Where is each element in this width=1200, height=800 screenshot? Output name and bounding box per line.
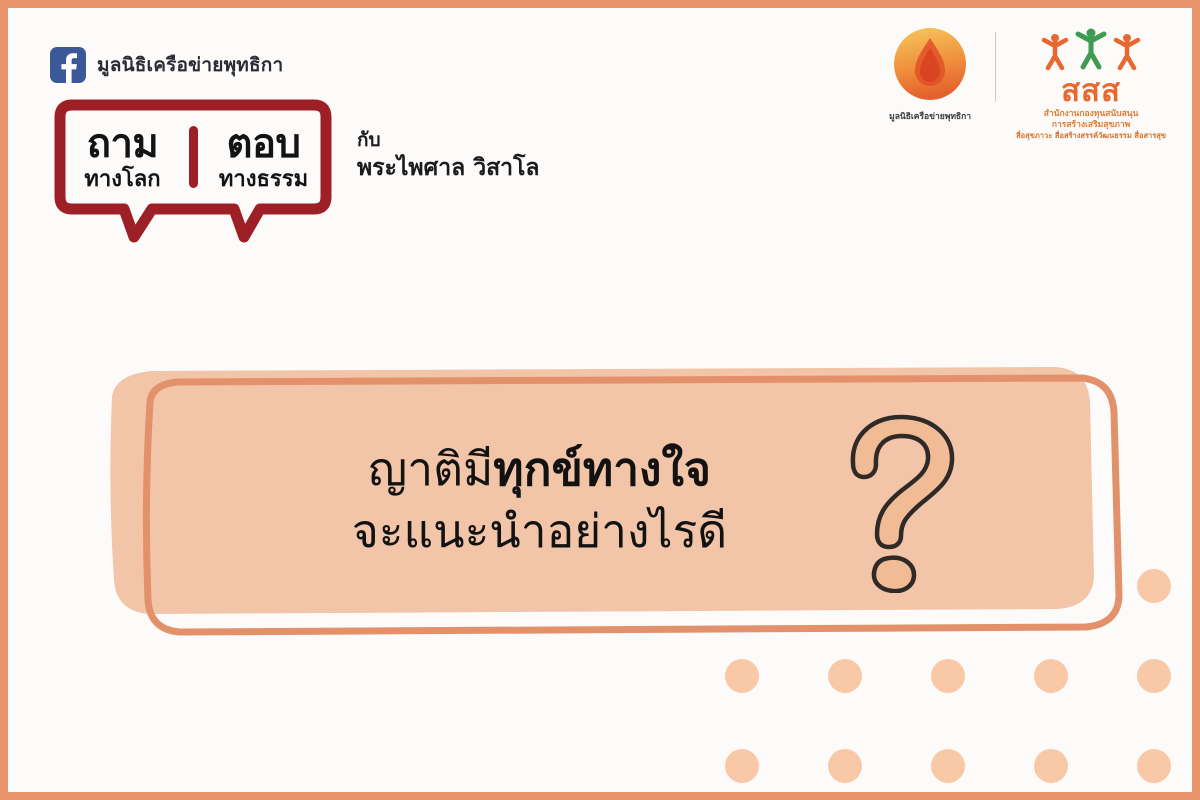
thaihealth-caption-line2: การสร้างเสริมสุขภาพ [1016, 120, 1166, 131]
partner-divider [995, 32, 996, 102]
thaihealth-wordmark: สสส [1035, 72, 1147, 108]
bubble-label-group: ถาม ทางโลก ตอบ ทางธรรม [48, 97, 338, 217]
decorative-dot [931, 749, 965, 783]
buddhika-caption: มูลนิธิเครือข่ายพุทธิกา [889, 109, 971, 123]
question-mark-icon [835, 408, 970, 593]
facebook-page-row[interactable]: มูลนิธิเครือข่ายพุทธิกา [50, 47, 283, 83]
buddhika-foundation-logo: มูลนิธิเครือข่ายพุทธิกา [885, 26, 975, 123]
thaihealth-logo: สสส สำนักงานกองทุนสนับสนุน การสร้างเสริม… [1016, 26, 1166, 141]
thaihealth-caption-line1: สำนักงานกองทุนสนับสนุน [1016, 109, 1166, 120]
card-text-block: ญาติมีทุกข์ทางใจ จะแนะนำอย่างไรดี [250, 405, 970, 595]
question-line-2: จะแนะนำอย่างไรดี [250, 504, 829, 558]
question-card: ญาติมีทุกข์ทางใจ จะแนะนำอย่างไรดี [70, 350, 1150, 670]
bubble-right-big: ตอบ [227, 122, 301, 167]
facebook-icon[interactable] [50, 47, 86, 83]
decorative-dot [725, 749, 759, 783]
bubble-left-big: ถาม [87, 122, 159, 167]
lotus-flame-icon [885, 26, 975, 106]
svg-text:สสส: สสส [1061, 73, 1121, 108]
question-line-1-bold: ทุกข์ทางใจ [493, 442, 711, 496]
partner-logo-row: มูลนิธิเครือข่ายพุทธิกา [885, 26, 1166, 141]
question-line-1-normal: ญาติมี [368, 442, 493, 496]
question-lines: ญาติมีทุกข์ทางใจ จะแนะนำอย่างไรดี [250, 442, 829, 559]
facebook-page-name: มูลนิธิเครือข่ายพุทธิกา [97, 50, 283, 80]
poster-canvas: มูลนิธิเครือข่ายพุทธิกา ถาม ทางโลก ตอบ ท… [0, 0, 1200, 800]
bubble-left-small: ทางโลก [84, 168, 160, 192]
decorative-dot [828, 749, 862, 783]
bubble-right-column: ตอบ ทางธรรม [198, 122, 330, 193]
thaihealth-stars-icon [1035, 26, 1147, 76]
author-prefix: กับ [357, 128, 540, 152]
decorative-dot [1034, 749, 1068, 783]
thaam-top-logo: ถาม ทางโลก ตอบ ทางธรรม [48, 97, 338, 245]
bubble-right-small: ทางธรรม [219, 168, 308, 192]
thaihealth-caption: สำนักงานกองทุนสนับสนุน การสร้างเสริมสุขภ… [1016, 109, 1166, 141]
bubble-divider [189, 126, 198, 188]
thaihealth-caption-line3: สื่อสุขภาวะ สื่อสร้างสรรค์วัฒนธรรม สื่อส… [1016, 131, 1166, 140]
author-block: กับ พระไพศาล วิสาโล [357, 128, 540, 184]
question-line-1: ญาติมีทุกข์ทางใจ [250, 442, 829, 496]
bubble-left-column: ถาม ทางโลก [57, 122, 189, 193]
author-name: พระไพศาล วิสาโล [357, 154, 540, 183]
decorative-dot [1137, 749, 1171, 783]
